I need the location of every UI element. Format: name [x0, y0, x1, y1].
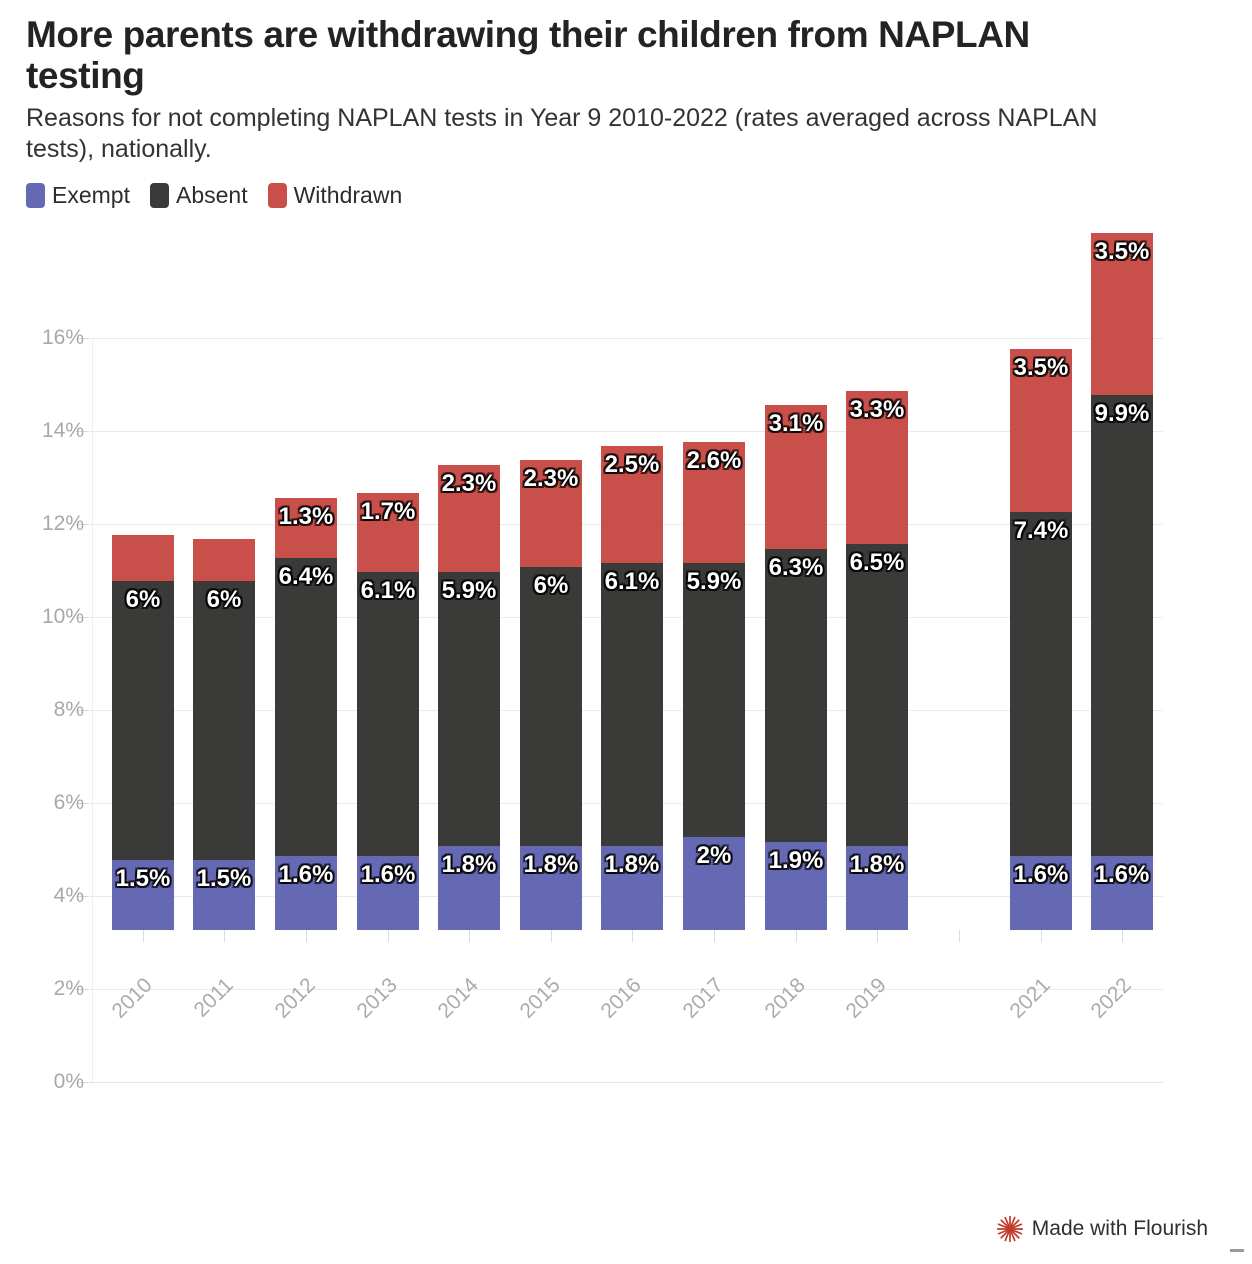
x-axis-tick: [388, 930, 389, 942]
x-axis-tick: [306, 930, 307, 942]
x-axis-tick: [877, 930, 878, 942]
x-axis-label: 2019: [828, 974, 892, 1038]
legend-label: Absent: [176, 182, 248, 209]
x-axis-label: 2022: [1073, 974, 1137, 1038]
legend-swatch-icon: [268, 183, 287, 208]
x-axis-tick: [1122, 930, 1123, 942]
x-axis-label: 2011: [175, 974, 239, 1038]
chart-subtitle: Reasons for not completing NAPLAN tests …: [26, 103, 1156, 166]
legend-swatch-icon: [150, 183, 169, 208]
x-axis-tick: [143, 930, 144, 942]
flourish-credit[interactable]: Made with Flourish: [997, 1216, 1208, 1242]
x-axis-label: 2012: [257, 974, 321, 1038]
x-axis-label: 2014: [420, 974, 484, 1038]
legend-item-withdrawn[interactable]: Withdrawn: [268, 182, 403, 209]
x-axis-tick: [632, 930, 633, 942]
chart-legend: ExemptAbsentWithdrawn: [0, 166, 1252, 209]
x-axis-tick: [796, 930, 797, 942]
legend-label: Exempt: [52, 182, 130, 209]
x-axis-label: 2018: [747, 974, 811, 1038]
x-axis-tick: [551, 930, 552, 942]
x-axis-tick: [224, 930, 225, 942]
x-axis-tick: [959, 930, 960, 942]
credit-label: Made with Flourish: [1032, 1217, 1208, 1241]
corner-handle: [1230, 1249, 1244, 1252]
legend-item-exempt[interactable]: Exempt: [26, 182, 130, 209]
x-axis-label: 2021: [992, 974, 1056, 1038]
x-axis-tick: [714, 930, 715, 942]
legend-item-absent[interactable]: Absent: [150, 182, 248, 209]
flourish-starburst-icon: [997, 1216, 1023, 1242]
plot-area: 0%2%4%6%8%10%12%14%16% 1.5%6%1.5%6%1.6%6…: [0, 322, 1252, 1112]
x-axis-label: 2016: [583, 974, 647, 1038]
x-axis-labels: 2010201120122013201420152016201720182019…: [0, 322, 1252, 1112]
page-title: More parents are withdrawing their child…: [26, 14, 1146, 97]
legend-label: Withdrawn: [294, 182, 403, 209]
bar-value-label: 3.5%: [1095, 233, 1150, 264]
legend-swatch-icon: [26, 183, 45, 208]
x-axis-label: 2013: [339, 974, 403, 1038]
chart-container: More parents are withdrawing their child…: [0, 0, 1252, 1264]
x-axis-label: 2010: [94, 974, 158, 1038]
x-axis-tick: [1041, 930, 1042, 942]
x-axis-tick: [469, 930, 470, 942]
x-axis-label: 2017: [665, 974, 729, 1038]
x-axis-label: 2015: [502, 974, 566, 1038]
chart-header: More parents are withdrawing their child…: [0, 0, 1252, 166]
